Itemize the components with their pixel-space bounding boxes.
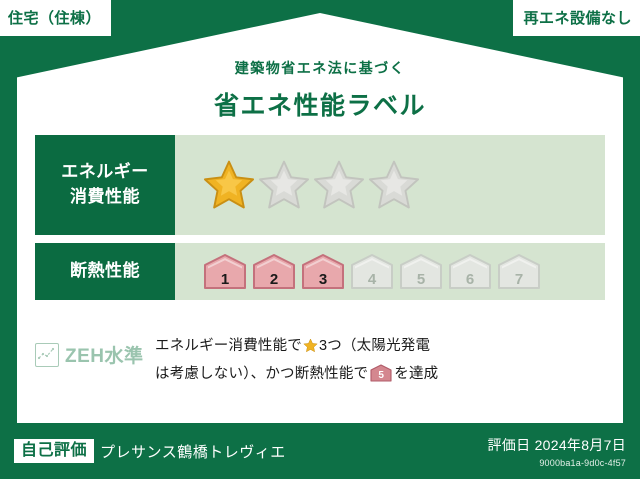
evaluation-date-label: 評価日 — [487, 437, 530, 453]
insulation-performance-value: 1234567 — [175, 243, 605, 300]
property-name: プレサンス鶴橋トレヴィエ — [100, 441, 286, 462]
house-grade-scale: 1234567 — [202, 253, 542, 291]
zeh-text-part3: は考慮しない）、かつ断熱性能で — [155, 366, 368, 382]
house-grade-number: 7 — [496, 272, 542, 287]
title-subtitle: 建築物省エネ法に基づく — [0, 58, 640, 78]
house-grade-number: 6 — [447, 272, 493, 287]
house-grade-number: 2 — [251, 272, 297, 287]
house-grade-empty: 5 — [398, 253, 444, 291]
zeh-trend-icon — [35, 343, 59, 367]
house-grade-achieved: 1 — [202, 253, 248, 291]
title-main: 省エネ性能ラベル — [0, 86, 640, 122]
house-grade-number: 5 — [398, 272, 444, 287]
house-grade-number: 3 — [300, 272, 346, 287]
house-grade-achieved: 3 — [300, 253, 346, 291]
star-empty-icon — [367, 158, 421, 212]
star-empty-icon — [257, 158, 311, 212]
house-grade-empty: 7 — [496, 253, 542, 291]
insulation-performance-row: 断熱性能 1234567 — [35, 243, 605, 300]
energy-performance-label-box: エネルギー 消費性能 — [35, 135, 175, 235]
label-footer: 自己評価 プレサンス鶴橋トレヴィエ 評価日 2024年8月7日 9000ba1a… — [0, 423, 640, 479]
zeh-standard-note: ZEH水準 エネルギー消費性能で3つ（太陽光発電は考慮しない）、かつ断熱性能で5… — [35, 334, 605, 388]
evaluation-id: 9000ba1a-9d0c-4f57 — [487, 458, 626, 468]
building-type-badge: 住宅（住棟） — [0, 0, 111, 36]
house-grade-empty: 4 — [349, 253, 395, 291]
energy-performance-label: 住宅（住棟） 再エネ設備なし 建築物省エネ法に基づく 省エネ性能ラベル エネルギ… — [0, 0, 640, 479]
energy-performance-value — [175, 135, 605, 235]
star-filled-icon — [202, 158, 256, 212]
energy-label-line2: 消費性能 — [70, 185, 140, 210]
evaluation-date-value: 2024年8月7日 — [535, 437, 626, 453]
zeh-text-part1: エネルギー消費性能で — [155, 338, 302, 354]
star-rating — [202, 158, 421, 212]
renewable-energy-badge: 再エネ設備なし — [513, 0, 640, 36]
footer-left-group: 自己評価 プレサンス鶴橋トレヴィエ — [14, 439, 286, 463]
zeh-text-part2: 3つ（太陽光発電 — [319, 338, 430, 354]
zeh-brand-label: ZEH水準 — [65, 341, 144, 368]
house-grade-number: 1 — [202, 272, 248, 287]
zeh-text-part4: を達成 — [394, 366, 438, 382]
footer-right-group: 評価日 2024年8月7日 9000ba1a-9d0c-4f57 — [487, 435, 626, 468]
inline-house-badge: 5 — [370, 364, 392, 382]
zeh-description: エネルギー消費性能で3つ（太陽光発電は考慮しない）、かつ断熱性能で5を達成 — [155, 334, 605, 388]
self-evaluation-badge: 自己評価 — [14, 439, 94, 463]
zeh-brand: ZEH水準 — [35, 334, 155, 368]
house-grade-achieved: 2 — [251, 253, 297, 291]
rating-rows: エネルギー 消費性能 断熱性能 1234567 — [35, 135, 605, 308]
star-empty-icon — [312, 158, 366, 212]
inline-house-grade: 5 — [370, 371, 392, 381]
house-grade-number: 4 — [349, 272, 395, 287]
insulation-performance-label-box: 断熱性能 — [35, 243, 175, 300]
house-grade-empty: 6 — [447, 253, 493, 291]
insulation-label-line1: 断熱性能 — [70, 259, 140, 284]
label-title: 建築物省エネ法に基づく 省エネ性能ラベル — [0, 58, 640, 122]
energy-performance-row: エネルギー 消費性能 — [35, 135, 605, 235]
inline-star-icon — [303, 341, 318, 357]
evaluation-date: 評価日 2024年8月7日 — [487, 435, 626, 455]
energy-label-line1: エネルギー — [61, 160, 149, 185]
